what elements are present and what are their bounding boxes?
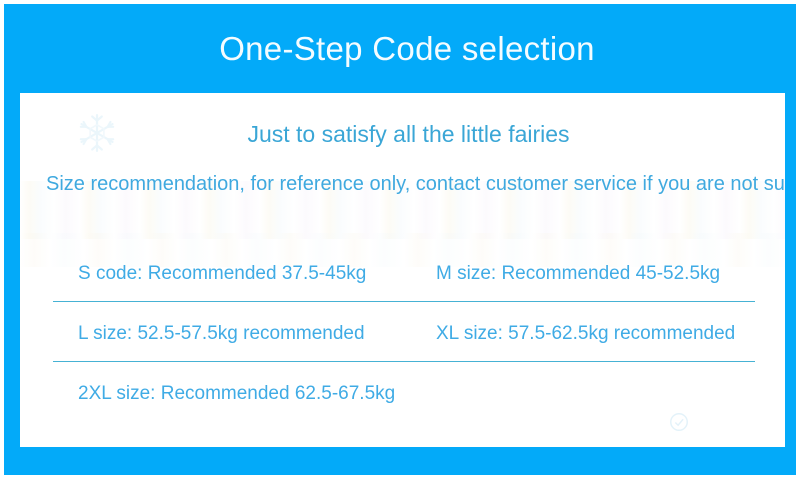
row-divider xyxy=(53,301,755,302)
row-divider xyxy=(53,361,755,362)
table-row: L size: 52.5-57.5kg recommended XL size:… xyxy=(20,308,785,368)
size-notice-text: Size recommendation, for reference only,… xyxy=(46,171,785,198)
size-entry-xl: XL size: 57.5-62.5kg recommended xyxy=(436,323,785,346)
size-entry-l: L size: 52.5-57.5kg recommended xyxy=(78,323,436,346)
size-entry-m: M size: Recommended 45-52.5kg xyxy=(436,263,785,286)
size-recommendation-list: S code: Recommended 37.5-45kg M size: Re… xyxy=(20,248,785,428)
table-row: S code: Recommended 37.5-45kg M size: Re… xyxy=(20,248,785,308)
card-subtitle: Just to satisfy all the little fairies xyxy=(20,121,785,149)
banner-header: One-Step Code selection xyxy=(4,4,796,93)
size-guide-card: Just to satisfy all the little fairies S… xyxy=(20,93,785,447)
promo-banner: One-Step Code selection xyxy=(4,4,796,475)
size-entry-2xl: 2XL size: Recommended 62.5-67.5kg xyxy=(78,383,436,406)
size-entry-s: S code: Recommended 37.5-45kg xyxy=(78,263,436,286)
table-row: 2XL size: Recommended 62.5-67.5kg xyxy=(20,368,785,428)
page-title: One-Step Code selection xyxy=(205,32,595,65)
